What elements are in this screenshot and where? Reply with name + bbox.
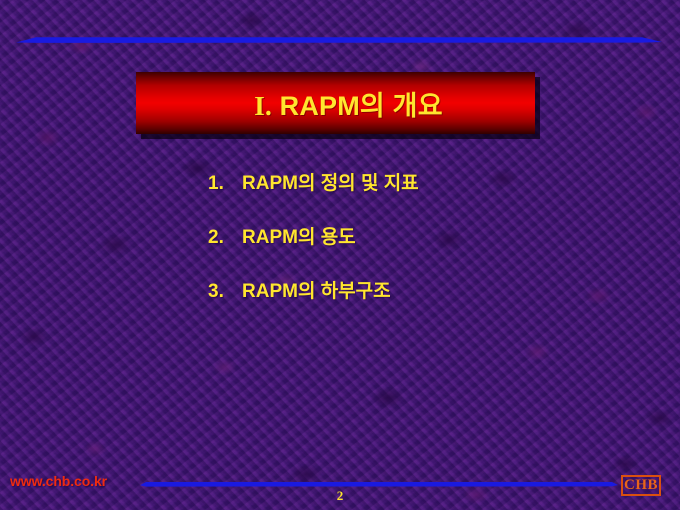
agenda-list: 1. RAPM의 정의 및 지표 2. RAPM의 용도 3. RAPM의 하부…: [208, 168, 628, 330]
list-item-number: 2.: [208, 227, 242, 249]
slide-title-banner: I. RAPM의 개요: [136, 72, 535, 134]
page-number: 2: [0, 488, 680, 504]
top-divider-rule: [16, 35, 662, 44]
footer-website-url[interactable]: www.chb.co.kr: [10, 473, 107, 489]
slide-canvas: I. RAPM의 개요 1. RAPM의 정의 및 지표 2. RAPM의 용도…: [0, 0, 680, 510]
list-item-number: 1.: [208, 173, 242, 195]
slide-title: I. RAPM의 개요: [228, 84, 443, 123]
list-item[interactable]: 1. RAPM의 정의 및 지표: [208, 168, 628, 222]
list-item-label: RAPM의 용도: [242, 222, 356, 249]
list-item-number: 3.: [208, 281, 242, 303]
slide-title-rest: RAPM의 개요: [272, 91, 443, 121]
list-item[interactable]: 3. RAPM의 하부구조: [208, 276, 628, 330]
footer-divider-rule: [140, 480, 618, 488]
chb-logo: CHB: [621, 475, 661, 496]
slide-title-roman: I.: [254, 91, 272, 121]
list-item[interactable]: 2. RAPM의 용도: [208, 222, 628, 276]
list-item-label: RAPM의 하부구조: [242, 276, 391, 303]
chb-logo-text: CHB: [624, 478, 658, 493]
list-item-label: RAPM의 정의 및 지표: [242, 168, 419, 195]
